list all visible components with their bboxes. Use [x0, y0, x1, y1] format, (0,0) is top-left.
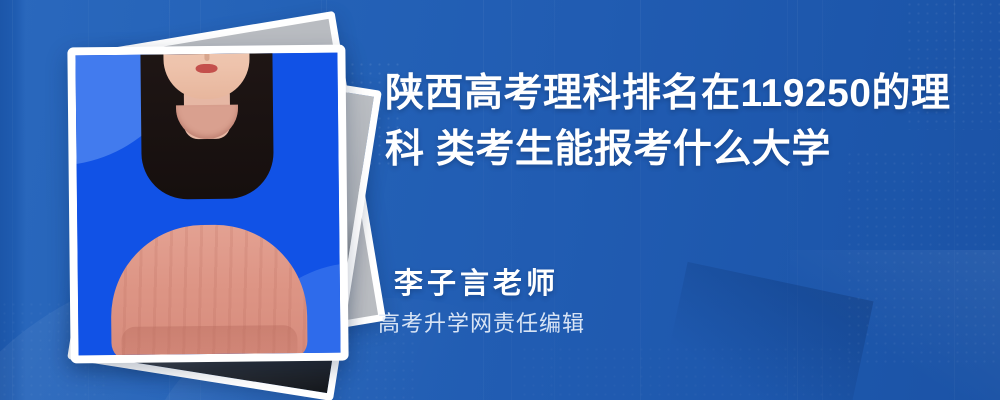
portrait-nose — [204, 49, 209, 61]
photo-stack — [55, 28, 355, 373]
author-photo-card — [67, 45, 348, 364]
left-edge-strip — [0, 0, 26, 400]
text-panel: 陕西高考理科排名在119250的理科 类考生能报考什么大学 李子言老师 高考升学… — [378, 0, 978, 400]
author-role: 高考升学网责任编辑 — [378, 308, 858, 340]
banner-image: 陕西高考理科排名在119250的理科 类考生能报考什么大学 李子言老师 高考升学… — [0, 0, 1000, 400]
author-name: 李子言老师 — [378, 265, 858, 303]
portrait-lips — [196, 64, 218, 73]
title-line-2: 类考生能报考什么大学 — [436, 128, 831, 171]
portrait-dress-hem — [121, 325, 297, 361]
avatar — [76, 98, 341, 356]
page-title: 陕西高考理科排名在119250的理科 类考生能报考什么大学 — [385, 66, 975, 178]
byline: 李子言老师 高考升学网责任编辑 — [378, 265, 858, 340]
